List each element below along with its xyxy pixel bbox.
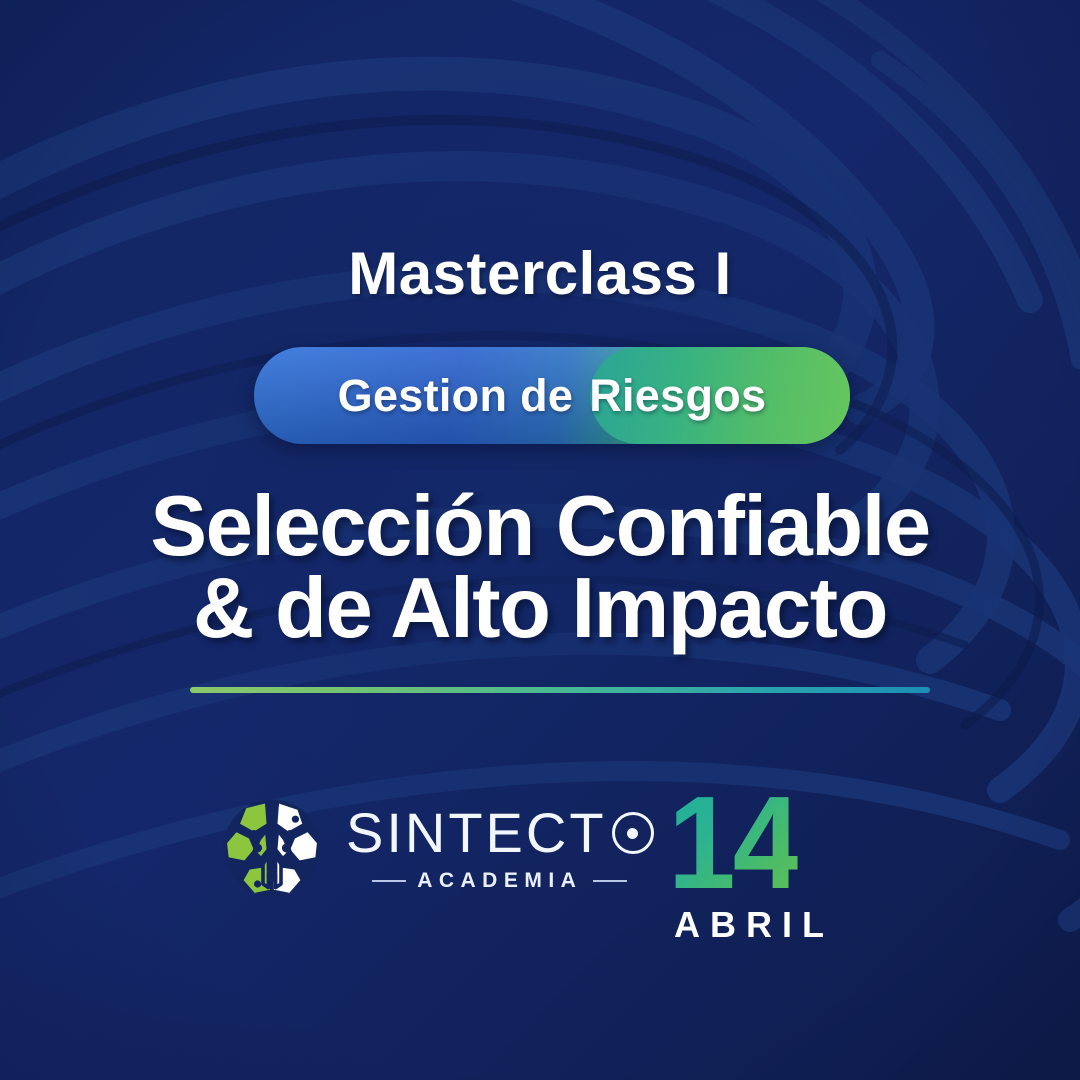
sintecto-brain-network-icon	[218, 794, 326, 902]
logo-dash-left-icon	[372, 880, 406, 882]
page-title: Selección Confiable & de Alto Impacto	[0, 486, 1080, 651]
sintecto-academia-logo: SINTECT ACADEMIA	[218, 794, 654, 902]
logo-subtitle: ACADEMIA	[417, 870, 582, 891]
logo-brand-name: SINTECT	[346, 805, 654, 861]
promotional-graphic-canvas: Masterclass I Gestion de Riesgos Selecci…	[0, 0, 1080, 1080]
logo-dash-right-icon	[593, 880, 627, 882]
logo-subtitle-row: ACADEMIA	[346, 870, 654, 891]
topic-badge: Gestion de Riesgos	[254, 347, 850, 444]
logo-wordmark: SINTECT ACADEMIA	[346, 805, 654, 891]
badge-label-highlight: Riesgos	[589, 370, 766, 422]
badge-label-primary: Gestion de	[338, 370, 574, 422]
content-stack: Masterclass I Gestion de Riesgos Selecci…	[0, 0, 1080, 1080]
logo-target-o-icon	[612, 812, 654, 854]
badge-text-row: Gestion de Riesgos	[254, 347, 850, 444]
logo-brand-name-text: SINTECT	[346, 805, 607, 861]
event-date: 14 ABRIL	[668, 788, 888, 943]
gradient-divider	[190, 687, 930, 693]
headline-line-2: & de Alto Impacto	[0, 568, 1080, 650]
eyebrow-title: Masterclass I	[0, 244, 1080, 304]
headline-line-1: Selección Confiable	[150, 479, 929, 574]
event-date-day: 14	[668, 788, 798, 899]
footer-row: SINTECT ACADEMIA 14 ABRIL	[0, 788, 1080, 963]
